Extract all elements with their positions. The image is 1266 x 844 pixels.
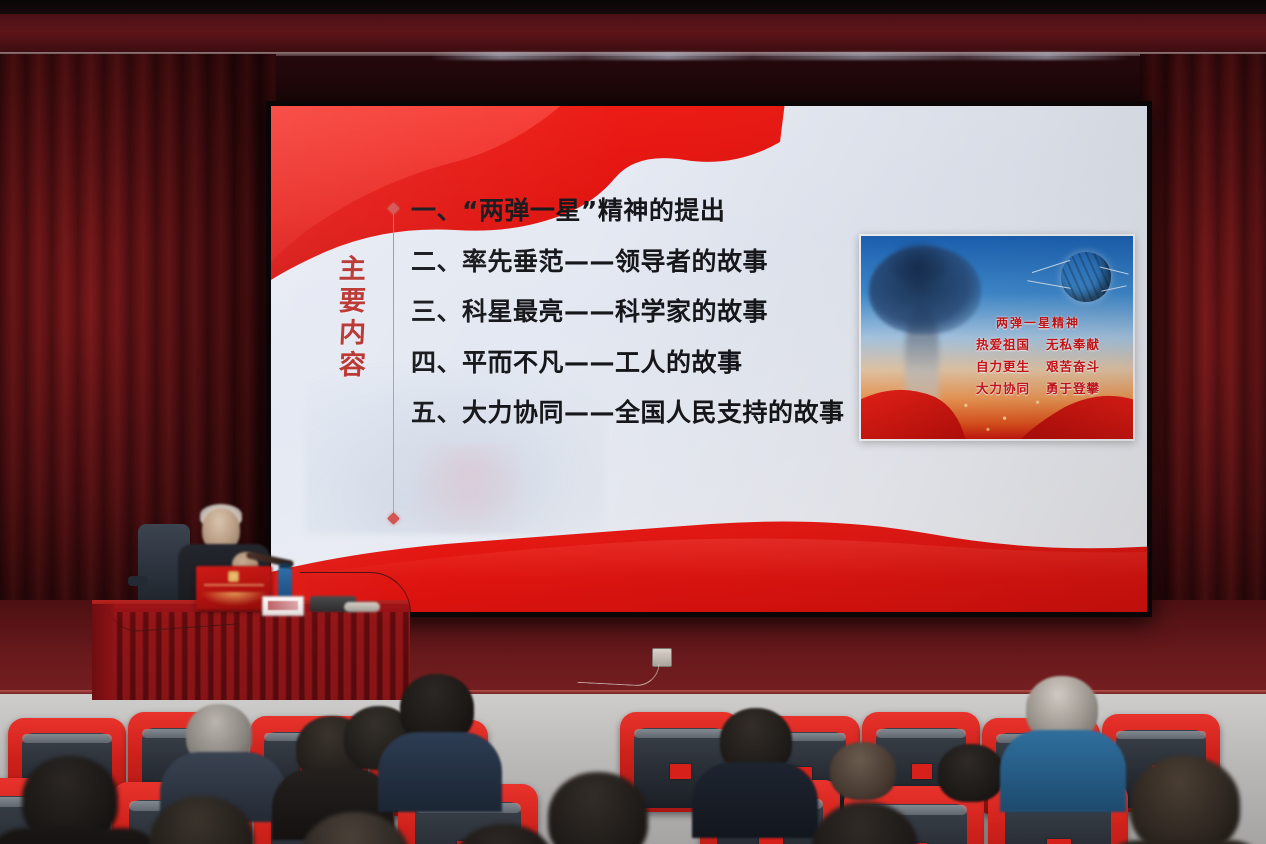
slide-vertical-title: 主 要 内 容: [329, 256, 375, 379]
slide-bullet-list: 一、“两弹一星”精神的提出 二、率先垂范——领导者的故事 三、科星最亮——科学家…: [411, 198, 881, 427]
red-book-emblem-icon: [228, 571, 239, 582]
slide-bullet-item: 三、科星最亮——科学家的故事: [411, 299, 881, 326]
inset-slogan: 自力更生: [976, 356, 1030, 375]
chair-armrest: [128, 576, 148, 586]
seat-headrest-bar: [876, 729, 966, 738]
inset-slogan: 大力协同: [976, 378, 1030, 397]
water-bottle: [278, 568, 292, 598]
seat-headrest-bar: [22, 734, 112, 743]
mushroom-cloud-top-icon: [885, 240, 951, 284]
inset-slogan: 勇于登攀: [1046, 378, 1100, 397]
inset-slogan: 热爱祖国: [976, 334, 1030, 353]
seat-headrest-bar: [634, 729, 725, 738]
vertical-title-char-3: 内: [338, 320, 366, 347]
seat-number-plate: [1047, 839, 1071, 844]
seat-number-plate: [670, 764, 690, 779]
audience-head: [1130, 756, 1240, 844]
ceiling-light-glints: [430, 52, 1130, 60]
slide-divider-line: [393, 208, 394, 518]
watermark-temple-icon: [399, 444, 539, 534]
audience-head: [938, 744, 1004, 802]
slide-bullet-item: 四、平而不凡——工人的故事: [411, 350, 881, 377]
seat-number-plate: [759, 837, 783, 844]
nameplate-text: [268, 601, 298, 610]
presentation-slide: 主 要 内 容 一、“两弹一星”精神的提出 二、率先垂范——领导者的故事 三、科…: [271, 106, 1147, 612]
audience-shoulders: [378, 732, 502, 812]
inset-title: 两弹一星精神: [996, 314, 1080, 331]
slide-bullet-item: 五、大力协同——全国人民支持的故事: [411, 400, 881, 427]
vertical-title-char-4: 容: [338, 352, 366, 379]
inset-slogan-row: 热爱祖国 无私奉献: [976, 334, 1100, 353]
slide-bullet-item: 二、率先垂范——领导者的故事: [411, 249, 881, 276]
auditorium-scene: 主 要 内 容 一、“两弹一星”精神的提出 二、率先垂范——领导者的故事 三、科…: [0, 0, 1266, 844]
audience-area: [0, 660, 1266, 844]
projection-screen: 主 要 内 容 一、“两弹一星”精神的提出 二、率先垂范——领导者的故事 三、科…: [266, 101, 1152, 617]
inset-slogan-row: 大力协同 勇于登攀: [976, 378, 1100, 397]
audience-head: [830, 742, 896, 800]
vertical-title-char-1: 主: [338, 256, 366, 283]
inset-slogan: 无私奉献: [1046, 334, 1100, 353]
audience-shoulders: [692, 762, 818, 838]
inset-slogan: 艰苦奋斗: [1046, 356, 1100, 375]
slide-inset-image: 两弹一星精神 热爱祖国 无私奉献 自力更生 艰苦奋斗 大力协同 勇于登攀: [859, 234, 1135, 441]
slide-bullet-item: 一、“两弹一星”精神的提出: [411, 198, 881, 225]
red-book-title-line: [204, 584, 264, 586]
seat-headrest-bar: [1116, 731, 1206, 740]
inset-slogan-row: 自力更生 艰苦奋斗: [976, 356, 1100, 375]
curtain-right-shading: [1140, 54, 1266, 694]
inset-text-block: 两弹一星精神 热爱祖国 无私奉献 自力更生 艰苦奋斗 大力协同 勇于登攀: [953, 314, 1123, 397]
audience-shoulders: [0, 828, 164, 844]
seat-number-plate: [912, 764, 932, 779]
vertical-title-char-2: 要: [338, 288, 366, 315]
audience-shoulders: [1000, 730, 1126, 812]
stage-valance: [0, 14, 1266, 54]
